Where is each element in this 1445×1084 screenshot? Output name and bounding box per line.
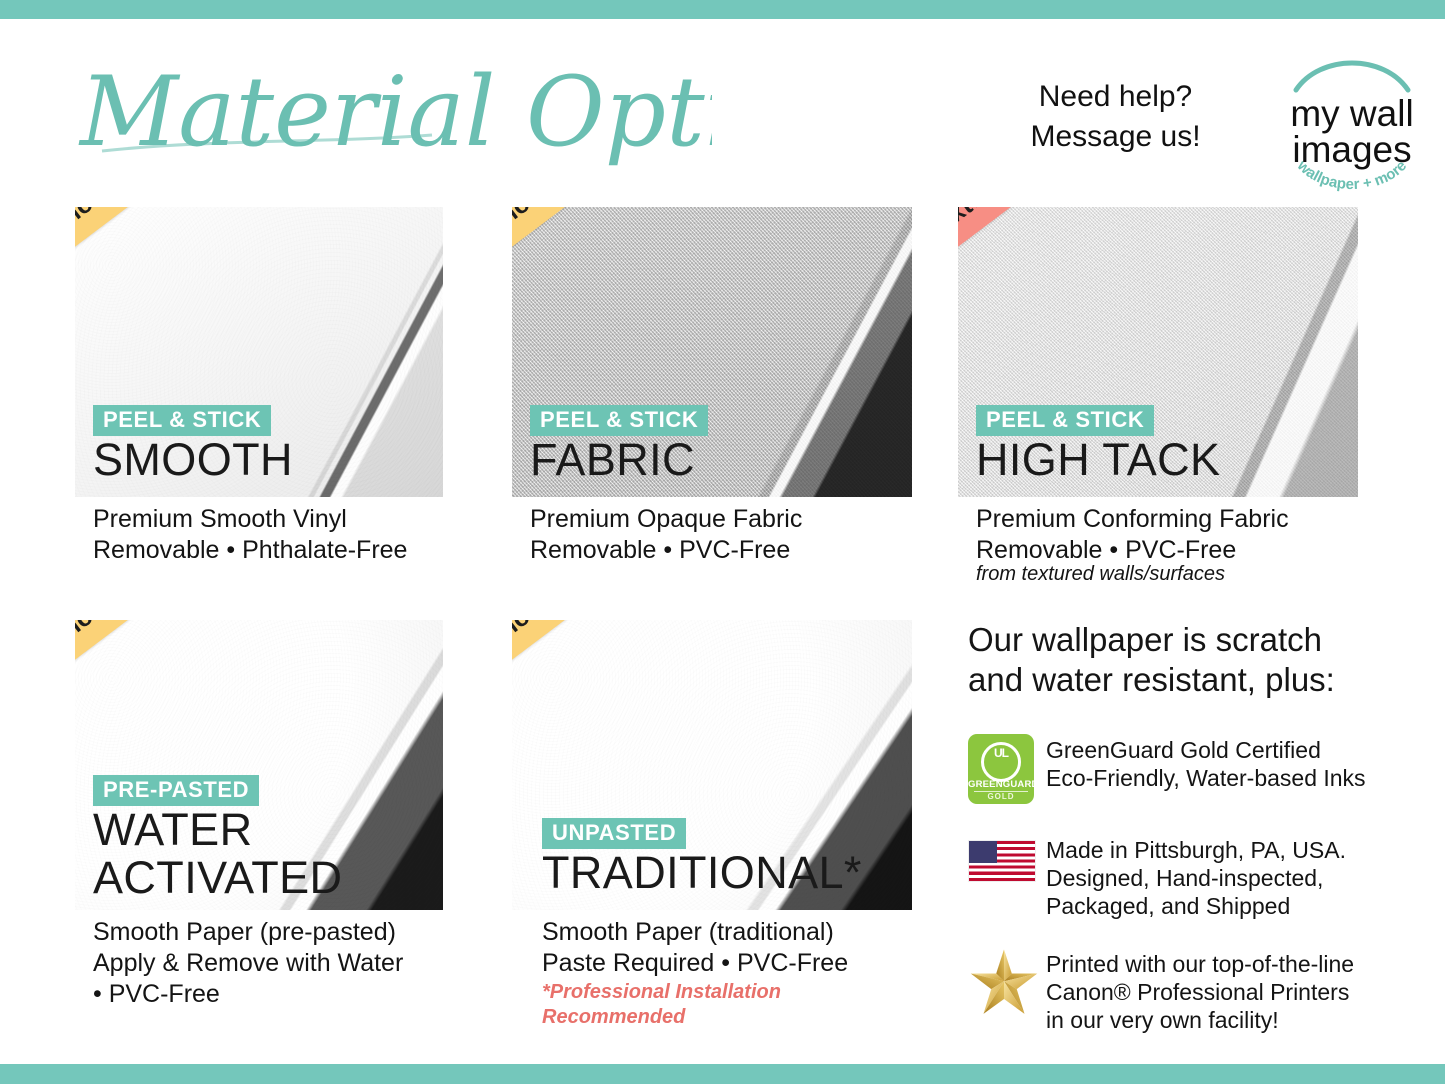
card-note-professional-install: *Professional Installation Recommended bbox=[542, 980, 912, 1030]
card-title: SMOOTH bbox=[93, 436, 293, 484]
material-card-water-activated[interactable]: for Smooth Walls PRE-PASTED WATER ACTIVA… bbox=[75, 620, 443, 1040]
material-card-traditional[interactable]: for Smooth Walls UNPASTED TRADITIONAL* S… bbox=[512, 620, 912, 1040]
features-heading: Our wallpaper is scratch and water resis… bbox=[968, 620, 1388, 700]
card-image-high-tack: for Textured Walls PEEL & STICK HIGH TAC… bbox=[958, 207, 1358, 497]
material-card-high-tack[interactable]: for Textured Walls PEEL & STICK HIGH TAC… bbox=[958, 207, 1358, 597]
feature-text-canon-printers: Printed with our top-of-the-line Canon® … bbox=[1046, 948, 1354, 1034]
feature-row-canon-printers: Printed with our top-of-the-line Canon® … bbox=[968, 948, 1388, 1034]
card-title: FABRIC bbox=[530, 436, 695, 484]
card-image-fabric: for Smooth Walls PEEL & STICK FABRIC bbox=[512, 207, 912, 497]
badge-application-type: PEEL & STICK bbox=[976, 405, 1154, 436]
badge-application-type: PEEL & STICK bbox=[93, 405, 271, 436]
greenguard-gold-badge-icon: UL GREENGUARD GOLD bbox=[968, 734, 1046, 804]
badge-application-type: PEEL & STICK bbox=[530, 405, 708, 436]
card-image-traditional: for Smooth Walls UNPASTED TRADITIONAL* bbox=[512, 620, 912, 910]
material-card-fabric[interactable]: for Smooth Walls PEEL & STICK FABRIC Pre… bbox=[512, 207, 912, 587]
card-title: WATER ACTIVATED bbox=[93, 806, 342, 902]
card-image-water-activated: for Smooth Walls PRE-PASTED WATER ACTIVA… bbox=[75, 620, 443, 910]
card-description: Premium Conforming Fabric Removable • PV… bbox=[976, 504, 1289, 566]
badge-application-type: UNPASTED bbox=[542, 818, 686, 849]
gold-level-label: GOLD bbox=[968, 792, 1034, 801]
card-title: HIGH TACK bbox=[976, 436, 1220, 484]
greenguard-label: GREENGUARD bbox=[968, 779, 1034, 790]
card-description: Premium Smooth Vinyl Removable • Phthala… bbox=[93, 504, 407, 566]
card-note: from textured walls/surfaces bbox=[976, 562, 1225, 587]
ul-label: UL bbox=[994, 747, 1008, 759]
usa-flag-icon bbox=[968, 834, 1046, 882]
feature-row-greenguard: UL GREENGUARD GOLD GreenGuard Gold Certi… bbox=[968, 734, 1388, 804]
feature-text-greenguard: GreenGuard Gold Certified Eco-Friendly, … bbox=[1046, 734, 1366, 792]
card-description: Smooth Paper (traditional) Paste Require… bbox=[542, 917, 848, 979]
feature-text-made-in-usa: Made in Pittsburgh, PA, USA. Designed, H… bbox=[1046, 834, 1346, 920]
features-panel: Our wallpaper is scratch and water resis… bbox=[968, 620, 1388, 1034]
card-description: Premium Opaque Fabric Removable • PVC-Fr… bbox=[530, 504, 802, 566]
material-card-smooth[interactable]: for Smooth Walls PEEL & STICK SMOOTH Pre… bbox=[75, 207, 443, 587]
card-image-smooth: for Smooth Walls PEEL & STICK SMOOTH bbox=[75, 207, 443, 497]
card-title: TRADITIONAL* bbox=[542, 849, 862, 897]
feature-row-made-in-usa: Made in Pittsburgh, PA, USA. Designed, H… bbox=[968, 834, 1388, 920]
gold-star-icon bbox=[968, 948, 1046, 1016]
flag-canton-stars bbox=[969, 841, 997, 863]
badge-application-type: PRE-PASTED bbox=[93, 775, 259, 806]
card-description: Smooth Paper (pre-pasted) Apply & Remove… bbox=[93, 917, 403, 1010]
